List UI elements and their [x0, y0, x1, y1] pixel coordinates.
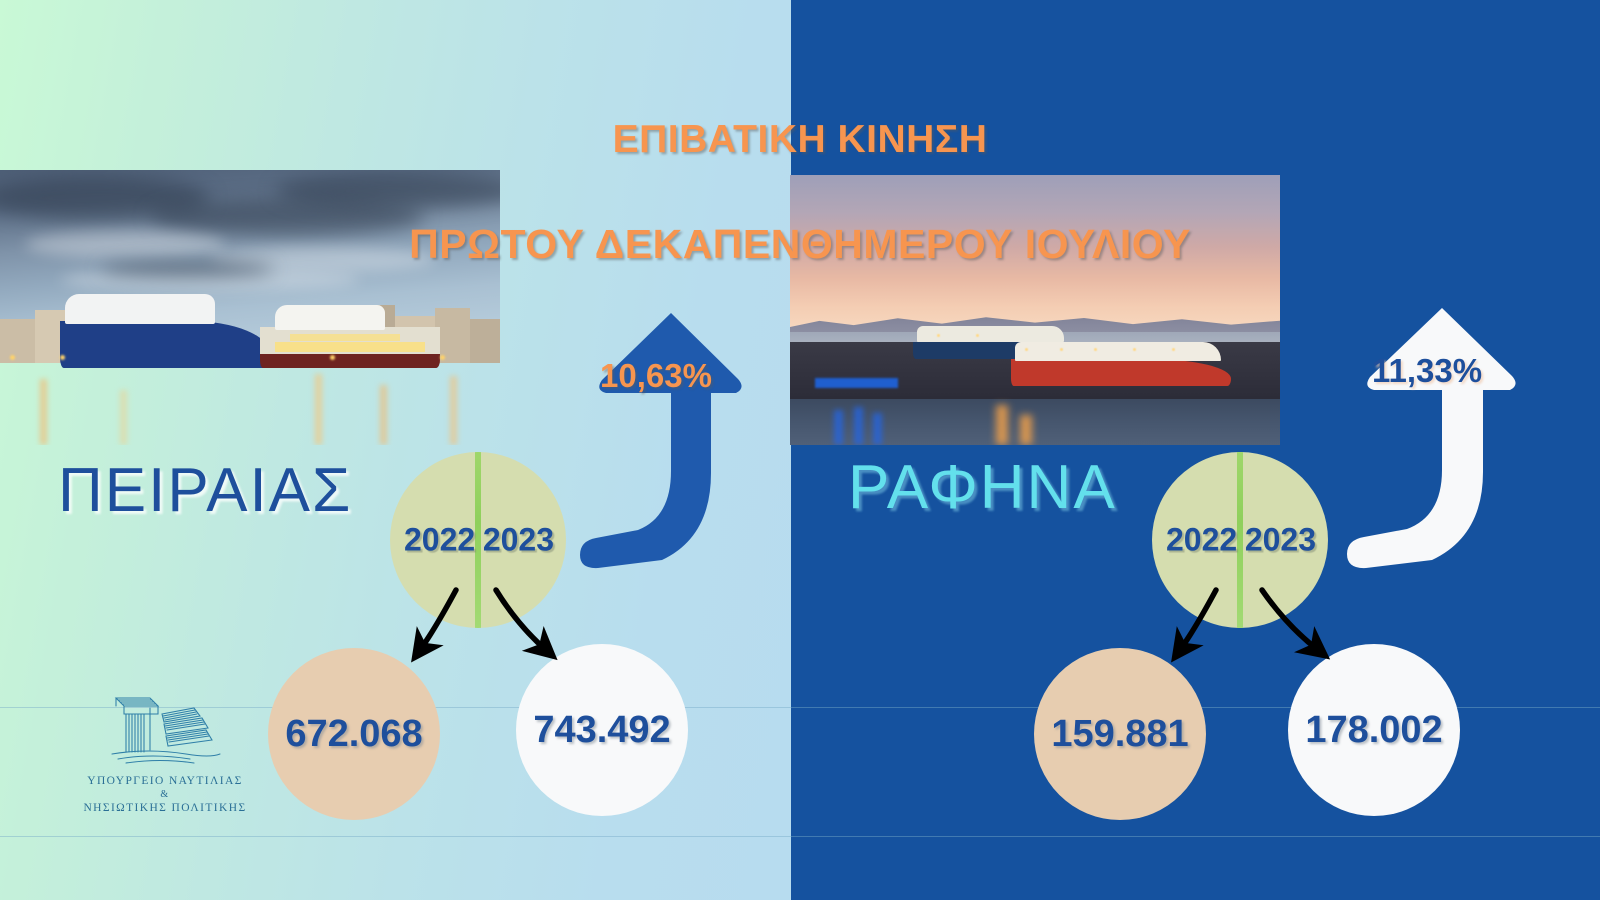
- deck-light: [1060, 348, 1063, 351]
- year-label-2022: 2022: [404, 522, 475, 559]
- year-label-2023: 2023: [483, 522, 554, 559]
- deck-light: [1094, 348, 1097, 351]
- deck-light: [1172, 348, 1175, 351]
- street-light: [10, 355, 15, 360]
- deck-light: [1025, 348, 1028, 351]
- growth-percent-rafina: 11,33%: [1332, 352, 1522, 390]
- ferry-hull-blue: [60, 321, 270, 368]
- blue-lit-building: [815, 378, 898, 389]
- water-reflection: [315, 374, 322, 446]
- water-reflection: [854, 407, 863, 445]
- arrow-to-2023-value: [496, 590, 546, 650]
- arrow-to-2022-value: [1180, 590, 1216, 650]
- growth-arrow-piraeus: 10,63%: [566, 305, 746, 580]
- street-light: [330, 355, 335, 360]
- value-rafina-2023: 178.002: [1305, 709, 1442, 752]
- street-light: [440, 355, 445, 360]
- water-reflection: [40, 379, 47, 445]
- connector-arrows-rafina: [1142, 580, 1432, 680]
- title-line-1: ΕΠΙΒΑΤΙΚΗ ΚΙΝΗΣΗ: [0, 114, 1600, 166]
- infographic-canvas: ΕΠΙΒΑΤΙΚΗ ΚΙΝΗΣΗ ΠΡΩΤΟΥ ΔΕΚΑΠΕΝΘΗΜΕΡΟΥ Ι…: [0, 0, 1600, 900]
- title-line-2: ΠΡΩΤΟΥ ΔΕΚΑΠΕΝΘΗΜΕΡΟΥ ΙΟΥΛΙΟΥ: [0, 218, 1600, 270]
- connector-arrows-piraeus: [380, 580, 660, 680]
- lit-windows: [275, 342, 425, 352]
- ferry-superstructure: [1015, 342, 1221, 361]
- up-arrow-icon: [1332, 300, 1522, 580]
- value-piraeus-2022: 672.068: [285, 713, 422, 756]
- port-name-piraeus: ΠΕΙΡΑΙΑΣ: [58, 455, 352, 526]
- water-reflection: [996, 405, 1008, 446]
- deck-light: [1133, 348, 1136, 351]
- water-reflection: [120, 390, 127, 445]
- growth-percent-piraeus: 10,63%: [566, 357, 746, 395]
- building: [470, 319, 500, 363]
- lit-windows: [290, 334, 400, 341]
- water-reflection: [834, 410, 843, 445]
- ministry-logo: ΥΠΟΥΡΓΕΙΟ ΝΑΥΤΙΛΙΑΣ & ΝΗΣΙΩΤΙΚΗΣ ΠΟΛΙΤΙΚ…: [60, 690, 270, 816]
- photo-water: [790, 399, 1280, 445]
- ferry-hull-red: [1011, 359, 1232, 386]
- port-name-rafina: ΡΑΦΗΝΑ: [848, 452, 1117, 523]
- value-piraeus-2023: 743.492: [533, 709, 670, 752]
- water-reflection: [380, 385, 387, 446]
- ministry-name-line-1: ΥΠΟΥΡΓΕΙΟ ΝΑΥΤΙΛΙΑΣ: [60, 774, 270, 789]
- value-rafina-2022: 159.881: [1051, 713, 1188, 756]
- ministry-ampersand: &: [60, 789, 270, 801]
- street-light: [60, 355, 65, 360]
- arrow-to-2023-value: [1262, 590, 1318, 650]
- water-reflection: [873, 413, 882, 445]
- building: [0, 319, 35, 363]
- arrow-to-2022-value: [420, 590, 456, 650]
- ministry-name-line-2: ΝΗΣΙΩΤΙΚΗΣ ΠΟΛΙΤΙΚΗΣ: [60, 801, 270, 816]
- ministry-building-emblem-icon: [90, 690, 240, 768]
- water-reflection: [1020, 415, 1032, 445]
- year-label-2023: 2023: [1245, 522, 1316, 559]
- water-reflection: [450, 376, 457, 445]
- page-title: ΕΠΙΒΑΤΙΚΗ ΚΙΝΗΣΗ ΠΡΩΤΟΥ ΔΕΚΑΠΕΝΘΗΜΕΡΟΥ Ι…: [0, 62, 1600, 322]
- up-arrow-icon: [566, 305, 746, 580]
- growth-arrow-rafina: 11,33%: [1332, 300, 1522, 580]
- year-label-2022: 2022: [1166, 522, 1237, 559]
